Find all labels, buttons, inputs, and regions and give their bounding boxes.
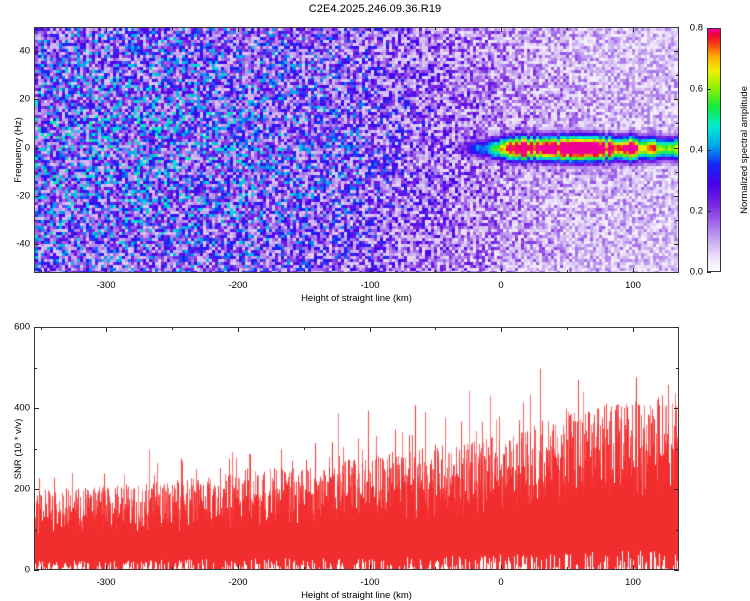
colorbar-tick-label: 0.6 xyxy=(673,84,703,95)
snr-x-tick-label: 100 xyxy=(625,577,641,588)
spectrogram-x-tick-label: -300 xyxy=(96,280,115,291)
axis-tick xyxy=(676,172,679,173)
colorbar-tick-label: 0.4 xyxy=(673,145,703,156)
axis-tick xyxy=(501,327,502,332)
axis-tick xyxy=(304,327,305,330)
axis-tick xyxy=(501,268,502,273)
axis-tick xyxy=(238,327,239,332)
axis-tick xyxy=(370,268,371,273)
axis-tick xyxy=(633,327,634,330)
spectrogram-x-tick-label: -100 xyxy=(360,280,379,291)
axis-tick xyxy=(34,220,37,221)
axis-tick xyxy=(567,27,568,30)
axis-tick xyxy=(676,530,679,531)
axis-tick xyxy=(567,270,568,273)
snr-y-axis-label: SNR (10 * v/v) xyxy=(13,418,24,479)
axis-tick xyxy=(34,244,39,245)
axis-tick xyxy=(106,27,107,32)
axis-tick xyxy=(674,489,679,490)
axis-tick xyxy=(674,99,679,100)
axis-tick xyxy=(34,449,37,450)
axis-tick xyxy=(34,489,39,490)
axis-tick xyxy=(106,327,107,332)
snr-x-tick-label: 0 xyxy=(498,577,503,588)
axis-tick xyxy=(674,51,679,52)
axis-tick xyxy=(304,27,305,30)
snr-y-tick-label: 600 xyxy=(2,322,30,333)
axis-tick xyxy=(34,148,39,149)
axis-tick xyxy=(172,27,173,30)
colorbar-tick xyxy=(707,28,711,29)
colorbar-tick-label: 0.2 xyxy=(673,206,703,217)
spectrogram-x-tick-label: 100 xyxy=(625,280,641,291)
axis-tick xyxy=(676,75,679,76)
axis-tick xyxy=(34,327,39,328)
axis-tick xyxy=(501,27,502,32)
figure-title: C2E4.2025.246.09.36.R19 xyxy=(0,3,750,15)
axis-tick xyxy=(34,570,39,571)
snr-y-tick-label: 200 xyxy=(2,484,30,495)
axis-tick xyxy=(34,530,37,531)
snr-x-tick-label: -300 xyxy=(96,577,115,588)
snr-y-tick-label: 0 xyxy=(2,565,30,576)
colorbar-label: Normalized spectral amplitude xyxy=(739,86,750,214)
colorbar-tick-label: 0.0 xyxy=(673,267,703,278)
axis-tick xyxy=(676,368,679,369)
axis-tick xyxy=(435,567,436,570)
axis-tick xyxy=(34,75,37,76)
axis-tick xyxy=(370,27,371,32)
spectrogram-y-tick-label: -20 xyxy=(4,191,30,202)
axis-tick xyxy=(34,172,37,173)
spectrogram-y-tick-label: -40 xyxy=(4,239,30,250)
axis-tick xyxy=(41,567,42,570)
colorbar-tick xyxy=(707,89,711,90)
spectrogram-y-tick-label: 40 xyxy=(4,46,30,57)
axis-tick xyxy=(41,27,42,30)
axis-tick xyxy=(567,327,568,330)
axis-tick xyxy=(41,270,42,273)
axis-tick xyxy=(567,567,568,570)
axis-tick xyxy=(676,123,679,124)
axis-tick xyxy=(633,567,634,570)
axis-tick xyxy=(106,565,107,570)
axis-tick xyxy=(676,449,679,450)
snr-x-tick-label: -100 xyxy=(360,577,379,588)
colorbar-tick-label: 0.8 xyxy=(673,23,703,34)
axis-tick xyxy=(238,27,239,32)
snr-trace xyxy=(35,328,678,569)
spectrogram-plot-area xyxy=(34,27,679,273)
axis-tick xyxy=(41,327,42,330)
axis-tick xyxy=(370,565,371,570)
axis-tick xyxy=(674,196,679,197)
axis-tick xyxy=(674,408,679,409)
figure-root: C2E4.2025.246.09.36.R19 -300-200-1000100… xyxy=(0,0,750,600)
spectrogram-x-tick-label: 0 xyxy=(498,280,503,291)
axis-tick xyxy=(633,270,634,273)
axis-tick xyxy=(501,565,502,570)
snr-x-tick-label: -200 xyxy=(228,577,247,588)
axis-tick xyxy=(34,123,37,124)
axis-tick xyxy=(674,327,679,328)
axis-tick xyxy=(370,327,371,332)
axis-tick xyxy=(238,268,239,273)
spectrogram-x-tick-label: -200 xyxy=(228,280,247,291)
axis-tick xyxy=(633,27,634,30)
spectrogram-y-axis-label: Frequency (Hz) xyxy=(13,117,24,182)
axis-tick xyxy=(34,368,37,369)
spectrogram-x-axis-label: Height of straight line (km) xyxy=(301,293,412,304)
axis-tick xyxy=(34,99,39,100)
snr-plot-area xyxy=(34,327,679,570)
axis-tick xyxy=(172,327,173,330)
colorbar-tick xyxy=(707,211,711,212)
spectrogram-image xyxy=(35,28,678,272)
snr-x-axis-label: Height of straight line (km) xyxy=(301,590,412,601)
snr-y-tick-label: 400 xyxy=(2,403,30,414)
axis-tick xyxy=(676,220,679,221)
colorbar-tick xyxy=(707,150,711,151)
axis-tick xyxy=(435,27,436,30)
axis-tick xyxy=(172,270,173,273)
axis-tick xyxy=(435,327,436,330)
axis-tick xyxy=(304,567,305,570)
axis-tick xyxy=(34,196,39,197)
axis-tick xyxy=(34,408,39,409)
axis-tick xyxy=(34,51,39,52)
axis-tick xyxy=(238,565,239,570)
axis-tick xyxy=(674,570,679,571)
axis-tick xyxy=(435,270,436,273)
axis-tick xyxy=(674,244,679,245)
axis-tick xyxy=(106,268,107,273)
axis-tick xyxy=(304,270,305,273)
axis-tick xyxy=(172,567,173,570)
colorbar-tick xyxy=(707,272,711,273)
spectrogram-y-tick-label: 20 xyxy=(4,94,30,105)
